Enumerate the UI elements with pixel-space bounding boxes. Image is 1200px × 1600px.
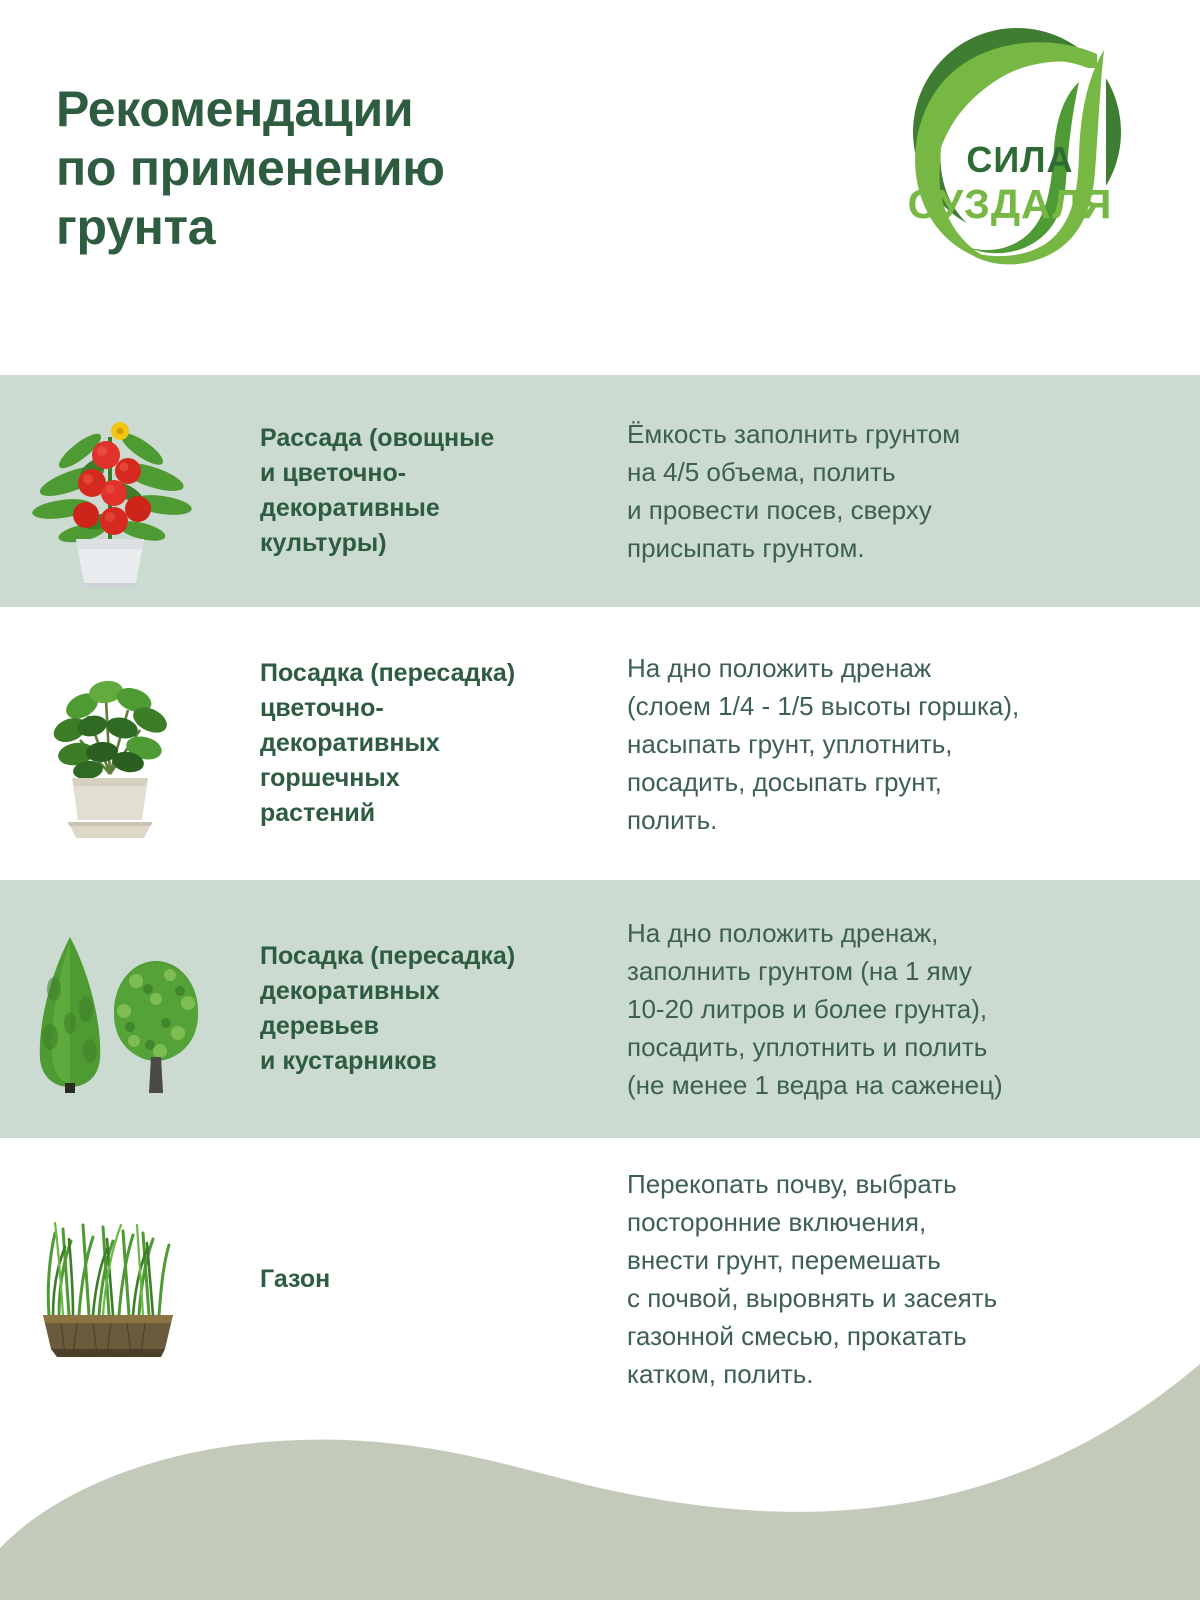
page-title: Рекомендации по применению грунта [56,80,696,257]
logo-line1: СИЛА [966,139,1073,180]
row-description: На дно положить дренаж, заполнить грунто… [613,914,1200,1104]
table-row: Газон Перекопать почву, выбрать посторон… [0,1138,1200,1420]
recommendations-table: Рассада (овощные и цветочно- декоративны… [0,375,1200,1420]
tomato-seedling-in-pot-image [0,375,220,607]
sila-suzdalya-logo: СИЛА СУЗДАЛЯ [892,22,1142,274]
infographic-page: Рекомендации по применению грунта СИЛА С… [0,0,1200,1600]
row-description: На дно положить дренаж (слоем 1/4 - 1/5 … [613,649,1200,839]
potted-houseplant-image [0,607,220,880]
row-description: Перекопать почву, выбрать посторонние вк… [613,1165,1200,1393]
row-label: Рассада (овощные и цветочно- декоративны… [220,421,613,561]
row-label: Газон [220,1262,613,1297]
decorative-trees-and-shrubs-image [0,880,220,1138]
row-description: Ёмкость заполнить грунтом на 4/5 объема,… [613,415,1200,567]
lawn-turf-image [0,1138,220,1420]
row-label: Посадка (пересадка) цветочно- декоративн… [220,656,613,831]
table-row: Рассада (овощные и цветочно- декоративны… [0,375,1200,607]
row-label: Посадка (пересадка) декоративных деревье… [220,939,613,1079]
header: Рекомендации по применению грунта СИЛА С… [0,0,1200,375]
table-row: Посадка (пересадка) цветочно- декоративн… [0,607,1200,880]
logo-line2: СУЗДАЛЯ [908,181,1113,227]
table-row: Посадка (пересадка) декоративных деревье… [0,880,1200,1138]
